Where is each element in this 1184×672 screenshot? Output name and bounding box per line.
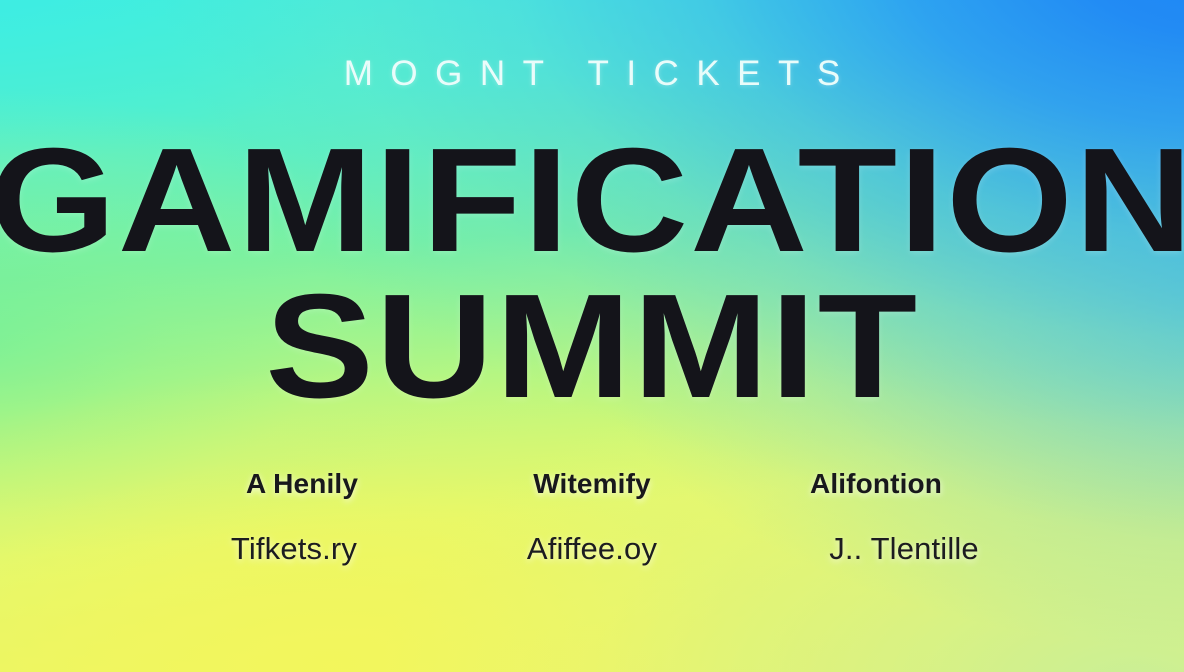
detail-column-subtitle: J.. Tlentille: [829, 532, 979, 566]
detail-column: A Henily Tifkets.ry: [157, 469, 447, 566]
poster-content: MOGNT TICKETS GAMIFICATION SUMMIT A Heni…: [0, 0, 1184, 672]
detail-column-subtitle: Afiffee.oy: [527, 532, 657, 566]
detail-column-subtitle: Tifkets.ry: [231, 532, 357, 566]
detail-column: Alifontion J.. Tlentille: [737, 469, 1027, 566]
poster-eyebrow: MOGNT TICKETS: [326, 56, 858, 91]
poster-detail-columns: A Henily Tifkets.ry Witemify Afiffee.oy …: [0, 469, 1184, 566]
detail-column-title: A Henily: [246, 469, 358, 500]
poster-headline-line-2: SUMMIT: [265, 279, 919, 415]
event-poster: MOGNT TICKETS GAMIFICATION SUMMIT A Heni…: [0, 0, 1184, 672]
detail-column: Witemify Afiffee.oy: [447, 469, 737, 566]
detail-column-title: Alifontion: [810, 469, 942, 500]
poster-headline-line-1: GAMIFICATION: [0, 133, 1184, 269]
detail-column-title: Witemify: [533, 469, 651, 500]
